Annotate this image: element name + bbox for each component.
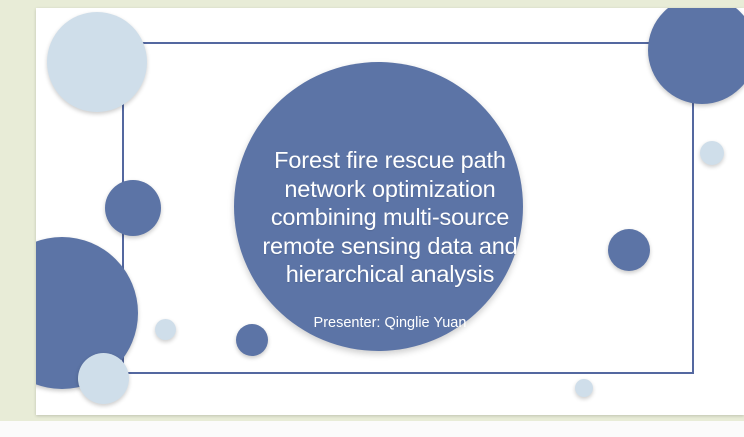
title-slide: Forest fire rescue path network optimiza… <box>36 8 744 415</box>
circle-bottom-right-light-icon <box>575 379 593 397</box>
circle-right-top-light-icon <box>700 141 724 165</box>
circle-left-mid-dark-icon <box>105 180 161 236</box>
page-backdrop-bottom-strip <box>0 421 744 437</box>
circle-bottom-left-light-icon <box>78 353 129 404</box>
hero-circle <box>234 62 523 351</box>
slide-stage: Forest fire rescue path network optimiza… <box>0 0 744 437</box>
circle-left-small-light-icon <box>155 319 176 340</box>
circle-center-bottom-dark-icon <box>236 324 268 356</box>
circle-right-mid-dark-icon <box>608 229 650 271</box>
circle-top-left-light-icon <box>47 12 147 112</box>
